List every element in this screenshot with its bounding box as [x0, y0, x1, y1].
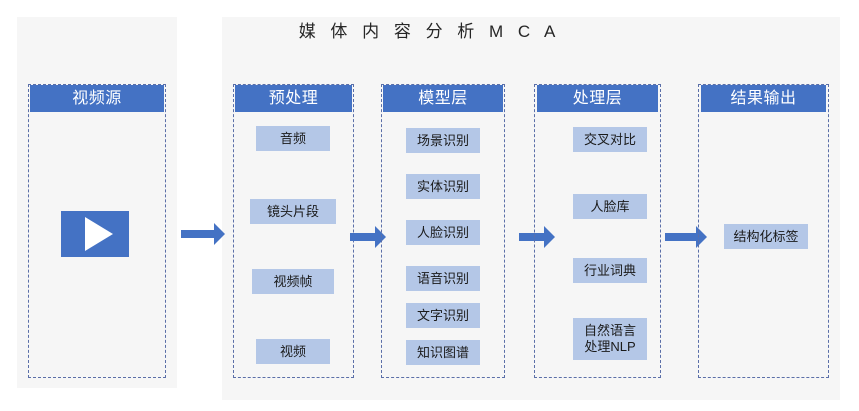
chip-result-0[interactable]: 结构化标签 — [724, 224, 808, 249]
column-header-model-layer: 模型层 — [383, 85, 503, 112]
chip-preprocessing-3[interactable]: 视频 — [256, 339, 330, 364]
chip-model-0[interactable]: 场景识别 — [406, 128, 480, 153]
chip-model-1[interactable]: 实体识别 — [406, 174, 480, 199]
diagram-canvas: 媒 体 内 容 分 析 M C A 视频源 预处理 音频 镜头片段 视频帧 视频… — [0, 0, 859, 411]
chip-model-4[interactable]: 文字识别 — [406, 303, 480, 328]
chip-model-2[interactable]: 人脸识别 — [406, 220, 480, 245]
column-header-video-source: 视频源 — [30, 85, 164, 112]
play-triangle-icon — [85, 217, 113, 251]
chip-processing-2[interactable]: 行业词典 — [573, 258, 647, 283]
column-header-processing-layer: 处理层 — [537, 85, 658, 112]
chip-processing-0[interactable]: 交叉对比 — [573, 127, 647, 152]
column-header-preprocessing: 预处理 — [235, 85, 352, 112]
chip-preprocessing-0[interactable]: 音频 — [256, 126, 330, 151]
chip-processing-3[interactable]: 自然语言 处理NLP — [573, 318, 647, 360]
chip-preprocessing-1[interactable]: 镜头片段 — [250, 199, 336, 224]
column-header-result-output: 结果输出 — [701, 85, 826, 112]
chip-preprocessing-2[interactable]: 视频帧 — [252, 269, 334, 294]
chip-model-5[interactable]: 知识图谱 — [406, 340, 480, 365]
play-button-icon[interactable] — [61, 211, 129, 257]
page-title: 媒 体 内 容 分 析 M C A — [0, 17, 859, 42]
arrow-source-to-preprocessing — [181, 223, 225, 245]
chip-processing-1[interactable]: 人脸库 — [573, 194, 647, 219]
chip-model-3[interactable]: 语音识别 — [406, 266, 480, 291]
